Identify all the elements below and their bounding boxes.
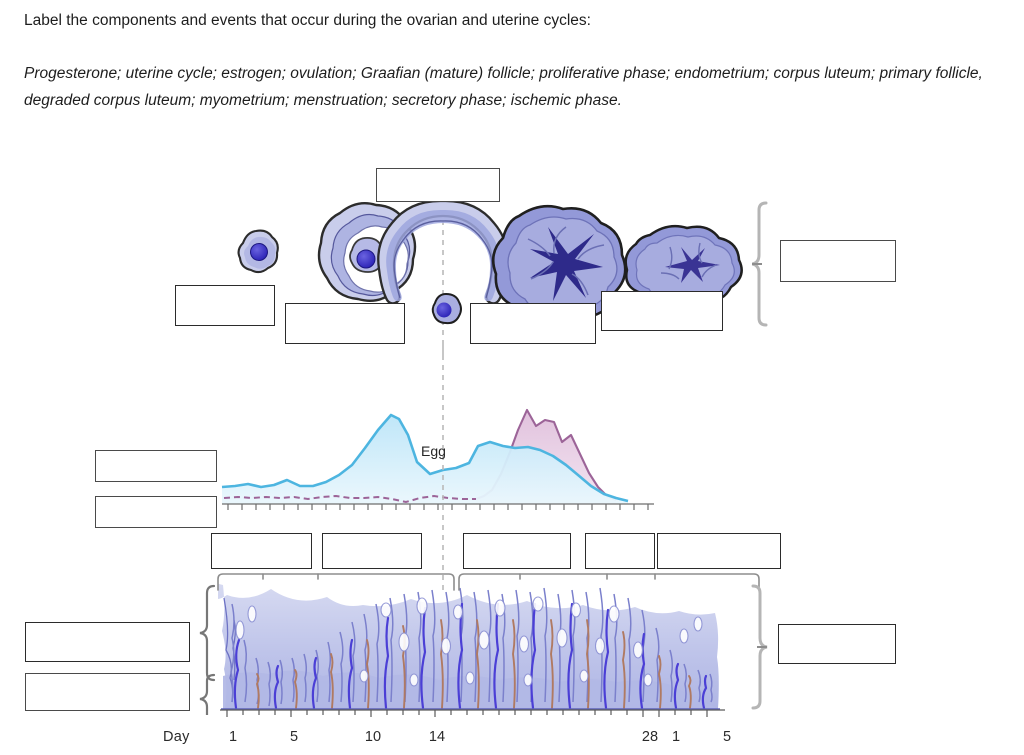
uterine-phase-brackets <box>215 570 760 592</box>
answer-box-developing-follicle[interactable] <box>285 303 405 344</box>
answer-box-ovarian-cycle[interactable] <box>780 240 896 282</box>
answer-box-hormone-lower[interactable] <box>95 496 217 528</box>
day-tick-10: 10 <box>365 729 381 745</box>
answer-box-uterine-cycle[interactable] <box>778 624 896 664</box>
day-tick-1: 1 <box>229 729 237 745</box>
answer-box-hormone-upper[interactable] <box>95 450 217 482</box>
ovarian-cycle-bracket <box>752 200 782 328</box>
answer-box-layer-upper[interactable] <box>25 622 190 662</box>
answer-box-phase-2[interactable] <box>322 533 422 569</box>
endometrial-layer-brackets <box>198 583 220 715</box>
egg-art <box>433 294 461 323</box>
day-tick-next-5: 5 <box>723 729 731 745</box>
day-tick-5: 5 <box>290 729 298 745</box>
primary-follicle-art <box>239 231 278 272</box>
day-tick-14: 14 <box>429 729 445 745</box>
worksheet-prompt: Label the components and events that occ… <box>24 8 984 34</box>
answer-box-primary-follicle[interactable] <box>175 285 275 326</box>
day-tick-28: 28 <box>642 729 658 745</box>
day-axis <box>215 708 730 726</box>
answer-box-ovulation[interactable] <box>376 168 500 202</box>
egg-label: Egg <box>421 443 446 459</box>
worksheet-term-list: Progesterone; uterine cycle; estrogen; o… <box>24 60 984 114</box>
answer-box-degraded-corpus-luteum[interactable] <box>601 291 723 331</box>
cycle-figure: Egg <box>0 155 1024 755</box>
answer-box-phase-3[interactable] <box>463 533 571 569</box>
answer-box-layer-lower[interactable] <box>25 673 190 711</box>
worksheet-instructions: Label the components and events that occ… <box>24 8 984 114</box>
answer-box-phase-5[interactable] <box>657 533 781 569</box>
answer-box-corpus-luteum[interactable] <box>470 303 596 344</box>
endometrium-illustration <box>218 580 723 720</box>
answer-box-phase-4[interactable] <box>585 533 655 569</box>
day-axis-label: Day <box>163 729 190 745</box>
ovulation-dashed-line-chart <box>436 345 450 595</box>
day-tick-next-1: 1 <box>672 729 680 745</box>
uterine-cycle-bracket <box>743 583 769 715</box>
answer-box-phase-1[interactable] <box>211 533 312 569</box>
